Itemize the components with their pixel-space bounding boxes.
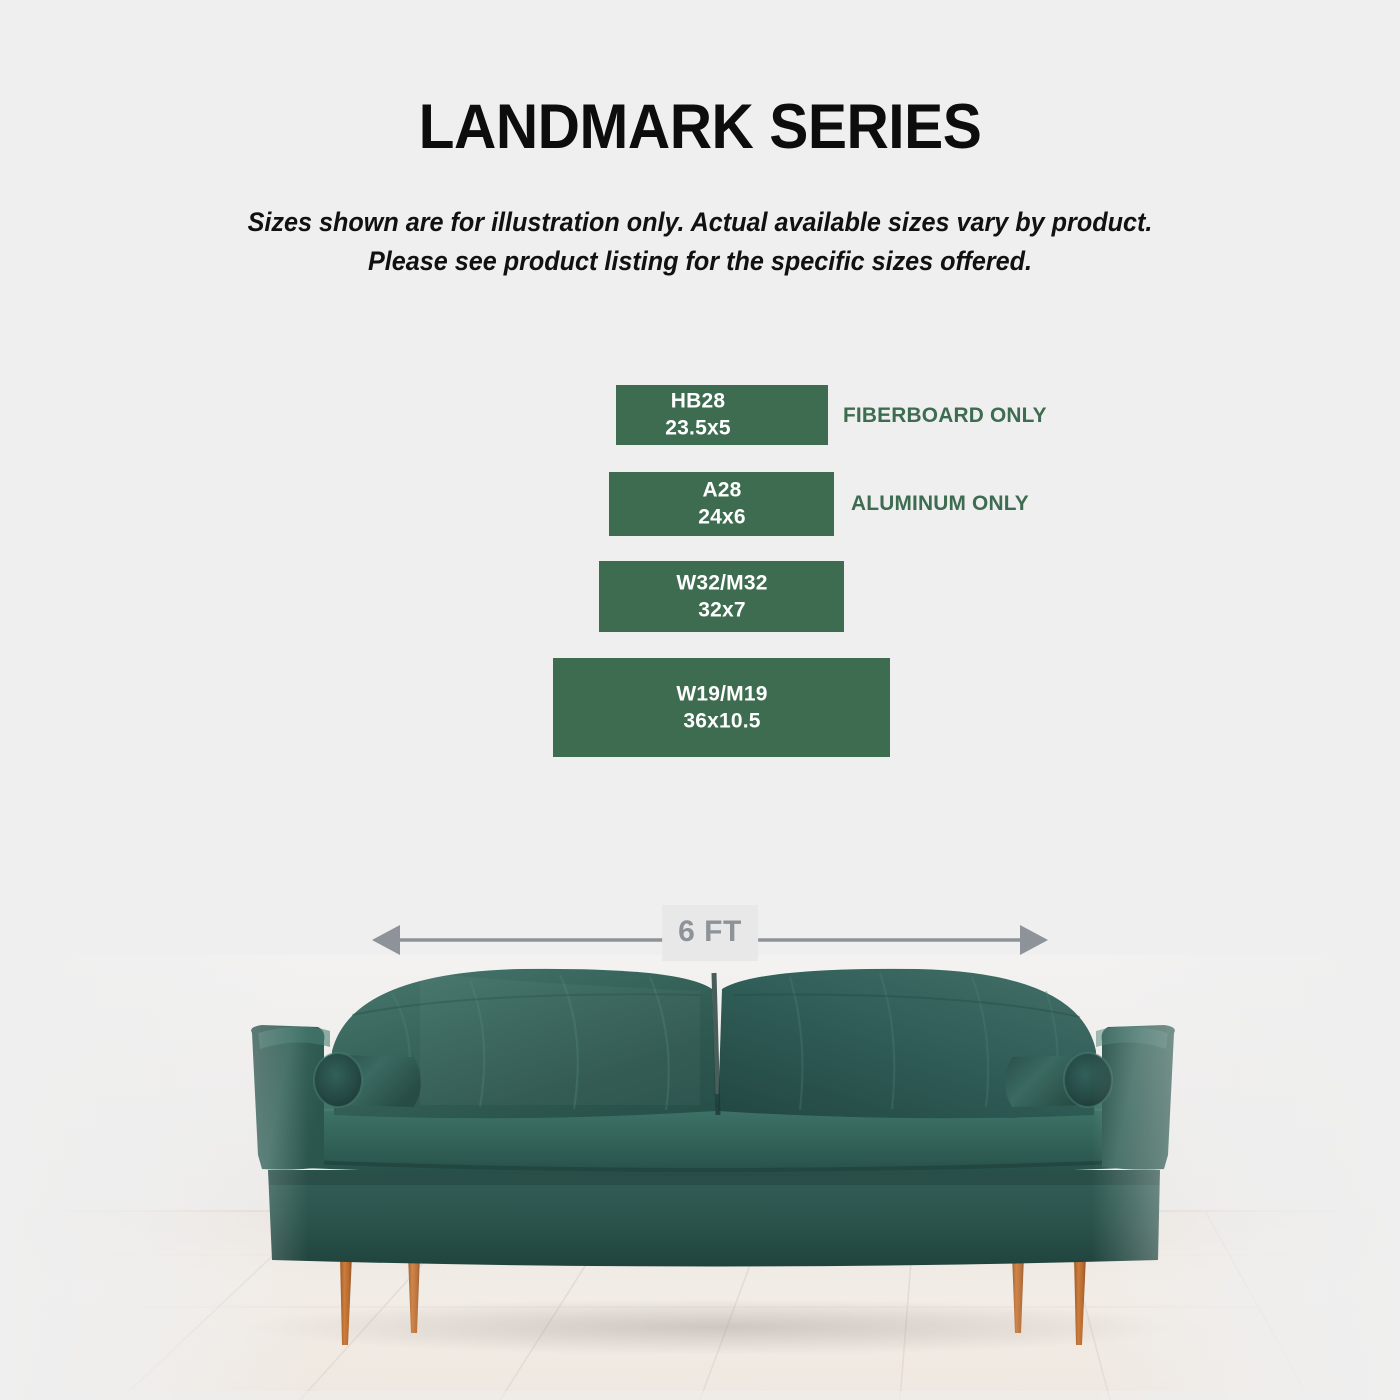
scale-label: 6 FT: [662, 905, 758, 961]
size-bar-w32-m32-text: W32/M32 32x7: [592, 569, 852, 624]
size-bar-hb28-code: HB28: [568, 388, 828, 415]
size-bar-hb28: HB28 23.5x5: [616, 385, 828, 445]
size-bar-a28: A28 24x6: [609, 472, 834, 536]
page-subtitle: Sizes shown are for illustration only. A…: [35, 203, 1365, 281]
size-bar-a28-dimensions: 24x6: [592, 504, 852, 531]
photo-bottom-fade: [0, 1391, 1400, 1400]
sofa-photo: [0, 955, 1400, 1400]
subtitle-line-2: Please see product listing for the speci…: [35, 242, 1365, 281]
size-bar-w32-m32: W32/M32 32x7: [599, 561, 844, 632]
photo-edge-fade: [0, 955, 1400, 1400]
subtitle-line-1: Sizes shown are for illustration only. A…: [35, 203, 1365, 242]
arrow-head-right-icon: [1020, 925, 1048, 955]
size-bar-a28-text: A28 24x6: [592, 477, 852, 532]
annotation-aluminum-only: ALUMINUM ONLY: [851, 491, 1029, 516]
size-bar-w32-m32-code: W32/M32: [592, 569, 852, 596]
poster-canvas: LANDMARK SERIES Sizes shown are for illu…: [0, 0, 1400, 1400]
size-bar-hb28-text: HB28 23.5x5: [568, 388, 828, 443]
size-bar-w19-m19: W19/M19 36x10.5: [553, 658, 890, 757]
size-bar-a28-code: A28: [592, 477, 852, 504]
annotation-fiberboard-only: FIBERBOARD ONLY: [843, 403, 1047, 428]
page-title: LANDMARK SERIES: [49, 96, 1351, 159]
size-bar-w19-m19-dimensions: 36x10.5: [592, 708, 852, 735]
size-bar-w32-m32-dimensions: 32x7: [592, 597, 852, 624]
size-bar-w19-m19-code: W19/M19: [592, 680, 852, 707]
arrow-head-left-icon: [372, 925, 400, 955]
size-bar-hb28-dimensions: 23.5x5: [568, 415, 828, 442]
size-bar-w19-m19-text: W19/M19 36x10.5: [592, 680, 852, 735]
sofa-illustration: [0, 955, 1400, 1400]
